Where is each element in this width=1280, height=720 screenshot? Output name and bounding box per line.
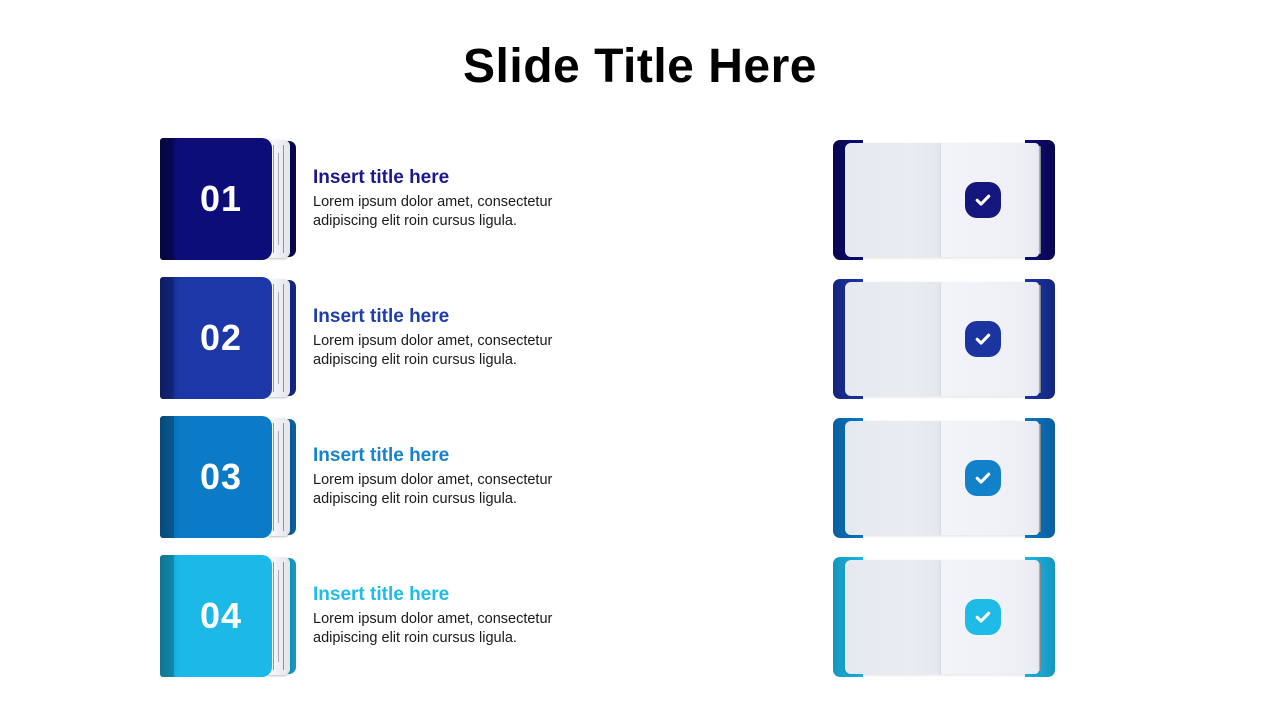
page-title: Slide Title Here bbox=[0, 38, 1280, 96]
open-book-04[interactable] bbox=[833, 557, 1055, 677]
item-number: 02 bbox=[160, 277, 272, 399]
item-title: Insert title here bbox=[313, 166, 613, 190]
list-item: 03 Insert title here Lorem ipsum dolor a… bbox=[0, 416, 1280, 538]
item-title: Insert title here bbox=[313, 444, 613, 468]
list-item: 04 Insert title here Lorem ipsum dolor a… bbox=[0, 555, 1280, 677]
open-book-left-page bbox=[845, 143, 941, 257]
number-book-03[interactable]: 03 bbox=[160, 416, 296, 538]
open-book-03[interactable] bbox=[833, 418, 1055, 538]
item-description: Lorem ipsum dolor amet, consectetur adip… bbox=[313, 193, 593, 231]
item-number: 03 bbox=[160, 416, 272, 538]
number-book-01[interactable]: 01 bbox=[160, 138, 296, 260]
book-front-cover: 04 bbox=[160, 555, 272, 677]
book-front-cover: 03 bbox=[160, 416, 272, 538]
list-item: 01 Insert title here Lorem ipsum dolor a… bbox=[0, 138, 1280, 260]
item-description: Lorem ipsum dolor amet, consectetur adip… bbox=[313, 610, 593, 648]
check-icon bbox=[965, 599, 1001, 635]
open-book-page-edge bbox=[1038, 563, 1041, 671]
book-front-cover: 02 bbox=[160, 277, 272, 399]
open-book-page-edge bbox=[1038, 285, 1041, 393]
item-title: Insert title here bbox=[313, 305, 613, 329]
item-number: 01 bbox=[160, 138, 272, 260]
item-text-block: Insert title here Lorem ipsum dolor amet… bbox=[313, 166, 613, 231]
open-book-01[interactable] bbox=[833, 140, 1055, 260]
number-book-04[interactable]: 04 bbox=[160, 555, 296, 677]
check-icon bbox=[965, 321, 1001, 357]
item-title: Insert title here bbox=[313, 583, 613, 607]
open-book-page-edge bbox=[1038, 424, 1041, 532]
open-book-page-edge bbox=[1038, 146, 1041, 254]
item-description: Lorem ipsum dolor amet, consectetur adip… bbox=[313, 332, 593, 370]
open-book-left-page bbox=[845, 421, 941, 535]
open-book-left-page bbox=[845, 282, 941, 396]
item-description: Lorem ipsum dolor amet, consectetur adip… bbox=[313, 471, 593, 509]
number-book-02[interactable]: 02 bbox=[160, 277, 296, 399]
item-text-block: Insert title here Lorem ipsum dolor amet… bbox=[313, 305, 613, 370]
item-text-block: Insert title here Lorem ipsum dolor amet… bbox=[313, 444, 613, 509]
open-book-02[interactable] bbox=[833, 279, 1055, 399]
check-icon bbox=[965, 460, 1001, 496]
list-item: 02 Insert title here Lorem ipsum dolor a… bbox=[0, 277, 1280, 399]
open-book-left-page bbox=[845, 560, 941, 674]
item-number: 04 bbox=[160, 555, 272, 677]
check-icon bbox=[965, 182, 1001, 218]
book-front-cover: 01 bbox=[160, 138, 272, 260]
item-text-block: Insert title here Lorem ipsum dolor amet… bbox=[313, 583, 613, 648]
